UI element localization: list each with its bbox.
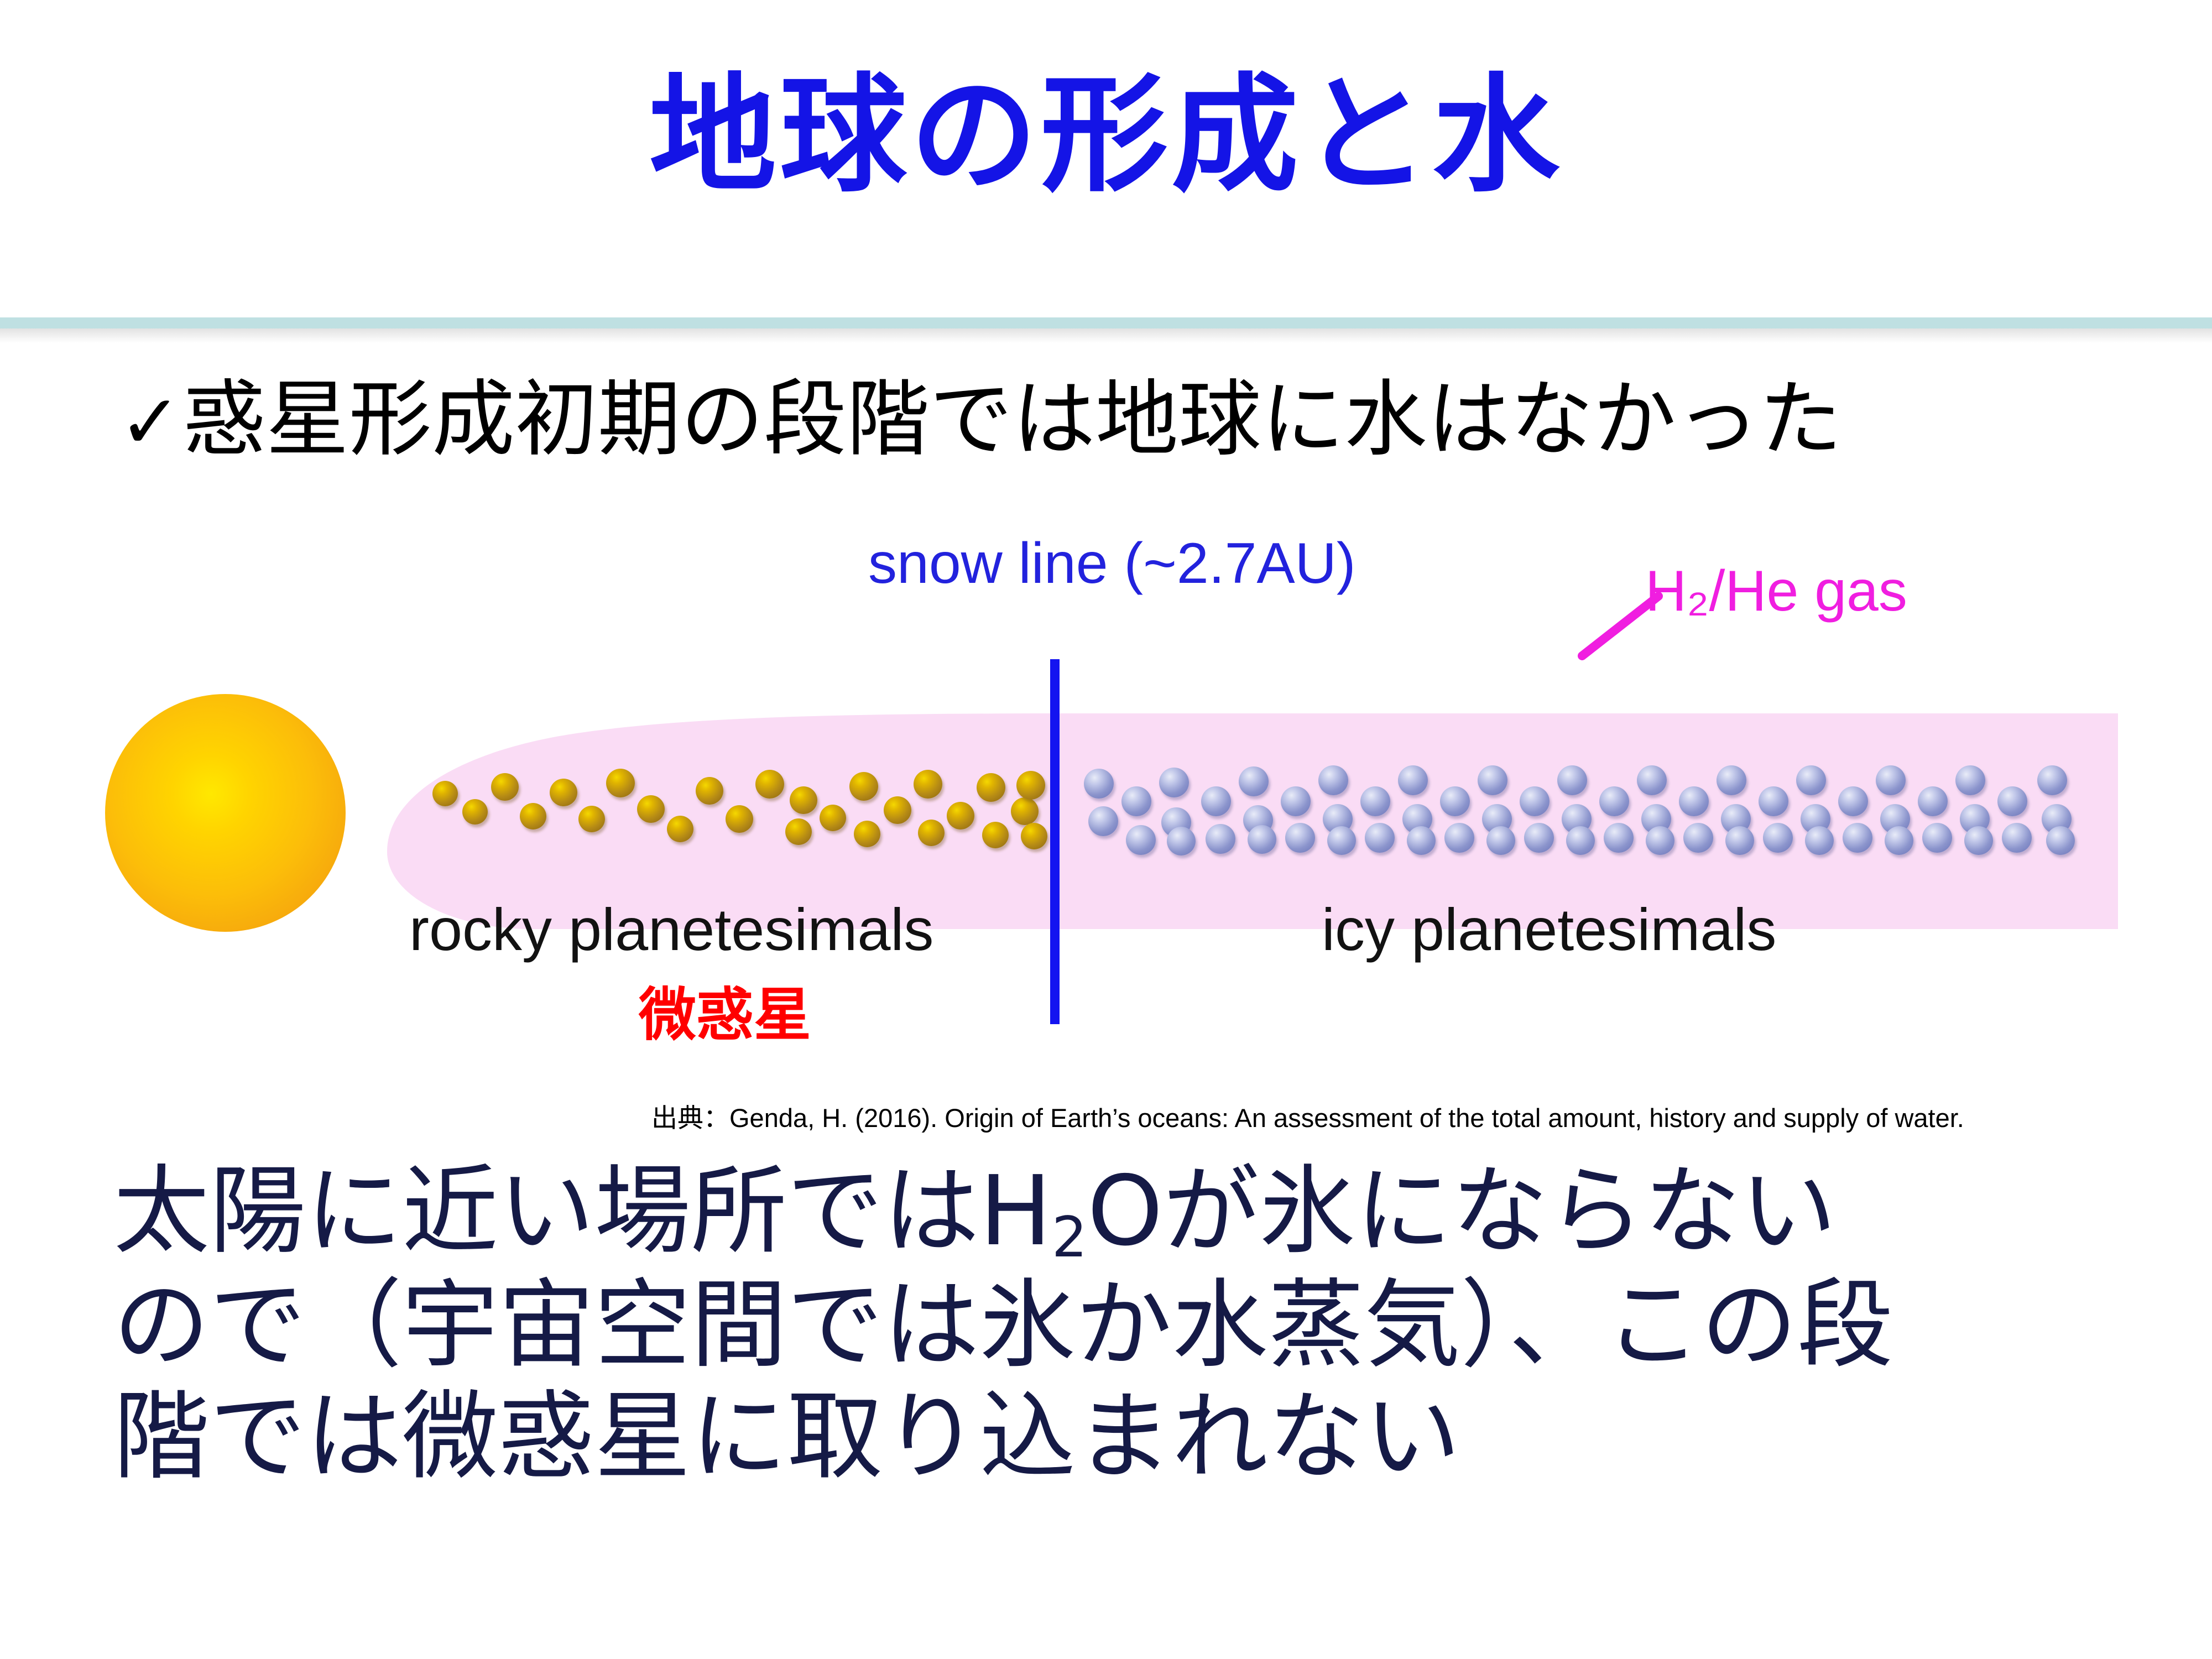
h2o-subscript: 2: [1052, 1204, 1087, 1270]
icy-planetesimal-dot: [1717, 765, 1746, 795]
icy-planetesimal-dot: [1440, 786, 1470, 816]
rocky-planetesimal-dot: [982, 822, 1009, 848]
rocky-planetesimal-dot: [1021, 823, 1047, 849]
microplanet-japanese-label: 微惑星: [639, 968, 811, 1051]
icy-planetesimal-dot: [1599, 786, 1629, 816]
icy-planetesimal-dot: [1285, 823, 1315, 853]
icy-planetesimal-dot: [1566, 826, 1595, 855]
icy-planetesimal-dot: [1683, 823, 1713, 853]
icy-planetesimal-dot: [1955, 765, 1985, 795]
icy-planetesimal-dot: [1201, 786, 1231, 816]
rocky-planetesimal-dot: [491, 773, 519, 801]
icy-planetesimal-dot: [1126, 825, 1156, 855]
rocky-planetesimal-dot: [520, 803, 546, 830]
header-divider-shadow: [0, 328, 2212, 343]
icy-planetesimal-dot: [1486, 826, 1515, 855]
icy-planetesimal-dot: [1524, 823, 1554, 853]
icy-planetesimal-dot: [2037, 765, 2067, 795]
icy-planetesimal-dot: [1444, 823, 1474, 853]
icy-planetesimal-dot: [1796, 765, 1826, 795]
snow-line-icon: [1050, 659, 1060, 1024]
icy-planetesimal-dot: [1997, 786, 2027, 816]
icy-planetesimal-dot: [1360, 786, 1390, 816]
icy-planetesimal-dot: [1637, 765, 1667, 795]
icy-planetesimal-dot: [1759, 786, 1788, 816]
icy-planetesimals-label: icy planetesimals: [1322, 895, 1776, 964]
rocky-planetesimal-dot: [696, 777, 723, 805]
rocky-planetesimal-dot: [854, 821, 880, 847]
icy-planetesimal-dot: [1407, 826, 1436, 855]
icy-planetesimal-dot: [1121, 786, 1151, 816]
icy-planetesimal-dot: [1281, 786, 1311, 816]
protoplanetary-disk-diagram: snow line (~2.7AU) H₂/He gas rocky plane…: [0, 531, 2212, 1145]
sun-icon: [105, 694, 346, 932]
bottom-text-line-3: 階では微惑星に取り込まれない: [113, 1381, 2159, 1493]
icy-planetesimal-dot: [1520, 786, 1550, 816]
rocky-planetesimal-dot: [1011, 797, 1039, 825]
rocky-planetesimal-dot: [432, 781, 458, 806]
rocky-planetesimal-dot: [550, 779, 577, 806]
icy-planetesimal-dot: [1805, 826, 1834, 855]
rocky-planetesimal-dot: [755, 770, 784, 799]
rocky-planetesimal-dot: [884, 796, 911, 824]
icy-planetesimal-dot: [1922, 823, 1952, 853]
gas-label: H₂/He gas: [1645, 559, 1907, 624]
icy-planetesimal-dot: [2002, 823, 2032, 853]
bullet-text: 惑星形成初期の段階では地球に水はなかった: [183, 372, 1842, 468]
icy-planetesimal-dot: [1557, 765, 1587, 795]
rocky-planetesimal-dot: [1016, 771, 1045, 800]
citation-text: 出典：Genda, H. (2016). Origin of Earth’s o…: [651, 1097, 1964, 1135]
rocky-planetesimal-dot: [785, 818, 812, 845]
rocky-planetesimal-dot: [914, 770, 942, 799]
rocky-planetesimal-dot: [947, 802, 974, 830]
icy-planetesimal-dot: [1876, 765, 1906, 795]
icy-planetesimal-dot: [1918, 786, 1948, 816]
icy-planetesimal-dot: [1248, 825, 1276, 854]
icy-planetesimal-dot: [1763, 823, 1793, 853]
page-title: 地球の形成と水: [0, 69, 2212, 203]
icy-planetesimal-dot: [1167, 827, 1196, 855]
icy-planetesimal-dot: [1646, 826, 1674, 855]
header-divider: [0, 317, 2212, 328]
rocky-planetesimal-dot: [578, 806, 605, 832]
icy-planetesimal-dot: [1318, 765, 1348, 795]
icy-planetesimal-dot: [1725, 826, 1754, 855]
icy-planetesimal-dot: [1478, 765, 1507, 795]
icy-planetesimal-dot: [1885, 826, 1913, 855]
icy-planetesimal-dot: [2046, 826, 2075, 855]
rocky-planetesimals-label: rocky planetesimals: [409, 895, 933, 964]
bottom-text-line-1b: Oが氷にならない: [1087, 1155, 1837, 1267]
bottom-text-line-1: 太陽に近い場所ではH2Oが氷にならない: [113, 1156, 2159, 1270]
icy-planetesimal-dot: [1327, 826, 1356, 855]
bottom-text-block: 太陽に近い場所ではH2Oが氷にならない ので（宇宙空間では氷か水蒸気）、この段 …: [113, 1156, 2159, 1493]
rocky-planetesimal-dot: [726, 805, 753, 833]
icy-planetesimal-dot: [1365, 823, 1395, 853]
icy-planetesimal-dot: [1679, 786, 1709, 816]
rocky-planetesimal-dot: [977, 773, 1005, 802]
rocky-planetesimal-dot: [667, 816, 693, 842]
icy-planetesimal-dot: [1398, 765, 1428, 795]
rocky-planetesimal-dot: [462, 799, 488, 825]
rocky-planetesimal-dot: [606, 769, 635, 797]
bottom-text-line-1a: 太陽に近い場所ではH: [113, 1155, 1052, 1267]
icy-planetesimal-dot: [1604, 823, 1634, 853]
rocky-planetesimal-dot: [918, 820, 945, 846]
snow-line-label: snow line (~2.7AU): [868, 531, 1356, 597]
rocky-planetesimal-dot: [637, 795, 665, 823]
icy-planetesimal-dot: [1964, 826, 1993, 855]
bullet-line: ✓惑星形成初期の段階では地球に水はなかった: [119, 373, 2165, 466]
icy-planetesimal-dot: [1206, 824, 1235, 854]
icy-planetesimal-dot: [1088, 806, 1118, 836]
rocky-planetesimal-dot: [790, 786, 817, 814]
icy-planetesimal-dot: [1838, 786, 1868, 816]
rocky-planetesimal-dot: [820, 805, 846, 831]
icy-planetesimal-dot: [1159, 768, 1189, 797]
icy-planetesimal-dot: [1084, 769, 1114, 799]
check-icon: ✓: [119, 379, 182, 466]
icy-planetesimal-dot: [1239, 766, 1269, 796]
icy-planetesimal-dot: [1843, 823, 1872, 853]
bottom-text-line-2: ので（宇宙空間では氷か水蒸気）、この段: [113, 1270, 2159, 1381]
rocky-planetesimal-dot: [849, 772, 878, 801]
